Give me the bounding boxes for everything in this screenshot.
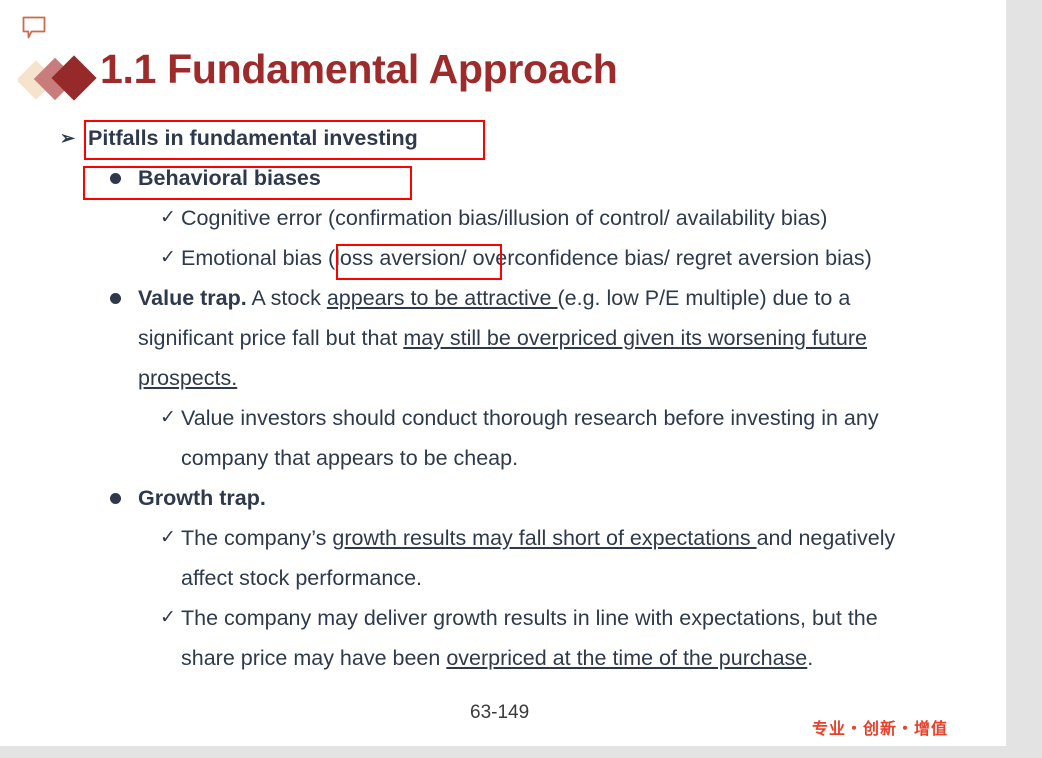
bullet-behavioral-biases: Behavioral biases [0, 158, 1006, 198]
growth-sub1-text-1: The company’s [181, 526, 332, 550]
bullet-cognitive-error: ✓ Cognitive error (confirmation bias/ill… [0, 198, 1006, 238]
slide-body: ➢ Pitfalls in fundamental investing Beha… [0, 118, 1006, 678]
check-bullet-icon: ✓ [160, 198, 176, 238]
growth-sub1-underline: growth results may fall short of expecta… [332, 526, 756, 550]
page-number: 63-149 [470, 702, 529, 724]
value-trap-underline-1: appears to be attractive [327, 286, 558, 310]
title-row: 1.1 Fundamental Approach [0, 50, 1006, 112]
page-title: 1.1 Fundamental Approach [100, 46, 618, 93]
comment-bubble-icon[interactable] [22, 16, 46, 44]
round-bullet-icon [110, 173, 121, 184]
bullet-growth-expectations: ✓ The company’s growth results may fall … [0, 518, 1006, 598]
slide-canvas: 1.1 Fundamental Approach ➢ Pitfalls in f… [0, 0, 1006, 746]
emotional-bias-text-pre: Emotional bias [181, 246, 328, 270]
check-bullet-icon: ✓ [160, 598, 176, 638]
comment-bubble-glyph [22, 16, 46, 44]
round-bullet-icon [110, 293, 121, 304]
footer-tagline: 专业・创新・增值 [812, 715, 948, 739]
pitfalls-heading-text: Pitfalls in fundamental investing [88, 126, 418, 150]
bullet-emotional-bias: ✓Emotional bias (loss aversion/ overconf… [0, 238, 1006, 278]
paragraph-growth-trap: Growth trap. [0, 478, 1006, 518]
emotional-bias-boxed-text: (loss aversion/ [328, 246, 467, 270]
value-investors-text: Value investors should conduct thorough … [181, 406, 879, 470]
check-bullet-icon: ✓ [160, 398, 176, 438]
value-trap-label: Value trap. [138, 286, 247, 310]
emotional-bias-text-post: overconfidence bias/ regret aversion bia… [467, 246, 872, 270]
growth-sub2-text-2: . [807, 646, 813, 670]
bullet-growth-overpriced: ✓The company may deliver growth results … [0, 598, 1006, 678]
behavioral-biases-text: Behavioral biases [138, 166, 321, 190]
paragraph-value-trap: Value trap. A stock appears to be attrac… [0, 278, 1006, 398]
cognitive-error-text: Cognitive error (confirmation bias/illus… [181, 206, 827, 230]
check-bullet-icon: ✓ [160, 518, 176, 558]
bullet-pitfalls: ➢ Pitfalls in fundamental investing [0, 118, 1006, 158]
three-diamonds-logo [18, 50, 104, 108]
check-bullet-icon: ✓ [160, 238, 176, 278]
value-trap-text-1: A stock [247, 286, 327, 310]
round-bullet-icon [110, 493, 121, 504]
growth-trap-label: Growth trap. [138, 486, 266, 510]
growth-sub2-underline: overpriced at the time of the purchase [446, 646, 807, 670]
bullet-value-investors: ✓Value investors should conduct thorough… [0, 398, 1006, 478]
arrow-bullet-icon: ➢ [60, 118, 75, 158]
